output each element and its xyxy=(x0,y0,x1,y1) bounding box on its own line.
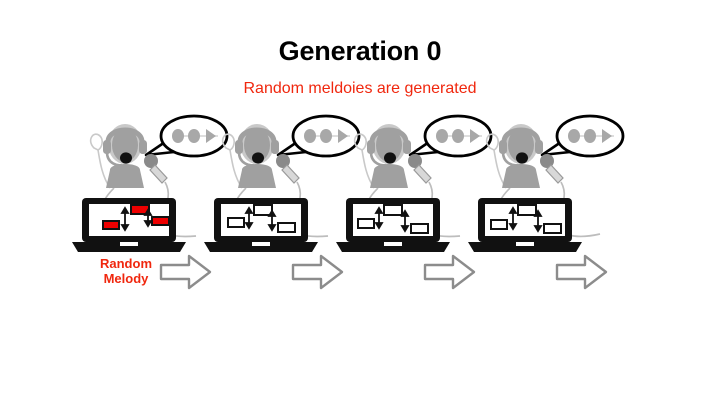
slide-canvas: Generation 0 Random meldoies are generat… xyxy=(0,0,720,405)
flow-arrow-4 xyxy=(554,252,610,292)
page-title: Generation 0 xyxy=(0,36,720,67)
generation-group-4 xyxy=(462,110,642,300)
laptop-with-melody xyxy=(334,188,452,256)
laptop-with-melody xyxy=(70,188,188,256)
page-subtitle: Random meldoies are generated xyxy=(0,80,720,98)
laptop-with-melody xyxy=(466,188,584,256)
laptop-with-melody xyxy=(202,188,320,256)
